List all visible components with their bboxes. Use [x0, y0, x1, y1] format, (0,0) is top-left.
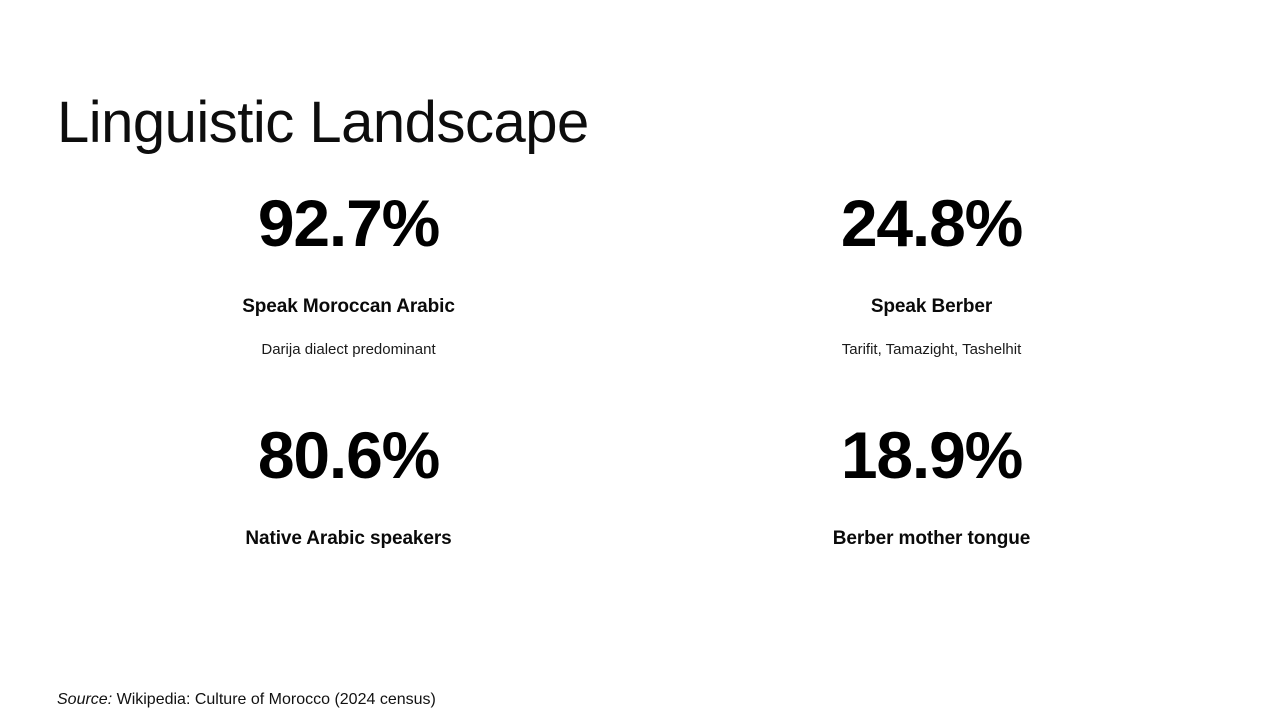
stat-label: Berber mother tongue [833, 528, 1031, 551]
source-text: Wikipedia: Culture of Morocco (2024 cens… [117, 691, 436, 708]
stat-value: 24.8% [841, 178, 1022, 256]
slide-canvas: Linguistic Landscape 92.7% Speak Morocca… [0, 0, 1280, 720]
stat-card-native-arabic-speakers: 80.6% Native Arabic speakers [57, 410, 640, 551]
stat-sublabel: Tarifit, Tamazight, Tashelhit [842, 341, 1022, 359]
stat-label: Speak Moroccan Arabic [242, 296, 455, 319]
stat-label: Speak Berber [871, 296, 992, 319]
statistics-grid: 92.7% Speak Moroccan Arabic Darija diale… [57, 178, 1223, 551]
page-title: Linguistic Landscape [57, 91, 589, 155]
stat-value: 18.9% [841, 410, 1022, 488]
source-note: Source: Wikipedia: Culture of Morocco (2… [57, 690, 436, 711]
stat-card-speak-moroccan-arabic: 92.7% Speak Moroccan Arabic Darija diale… [57, 178, 640, 410]
stat-card-speak-berber: 24.8% Speak Berber Tarifit, Tamazight, T… [640, 178, 1223, 410]
source-prefix: Source: [57, 691, 112, 708]
stat-value: 92.7% [258, 178, 439, 256]
stat-label: Native Arabic speakers [245, 528, 451, 551]
stat-card-berber-mother-tongue: 18.9% Berber mother tongue [640, 410, 1223, 551]
stat-sublabel: Darija dialect predominant [261, 341, 435, 359]
stat-value: 80.6% [258, 410, 439, 488]
